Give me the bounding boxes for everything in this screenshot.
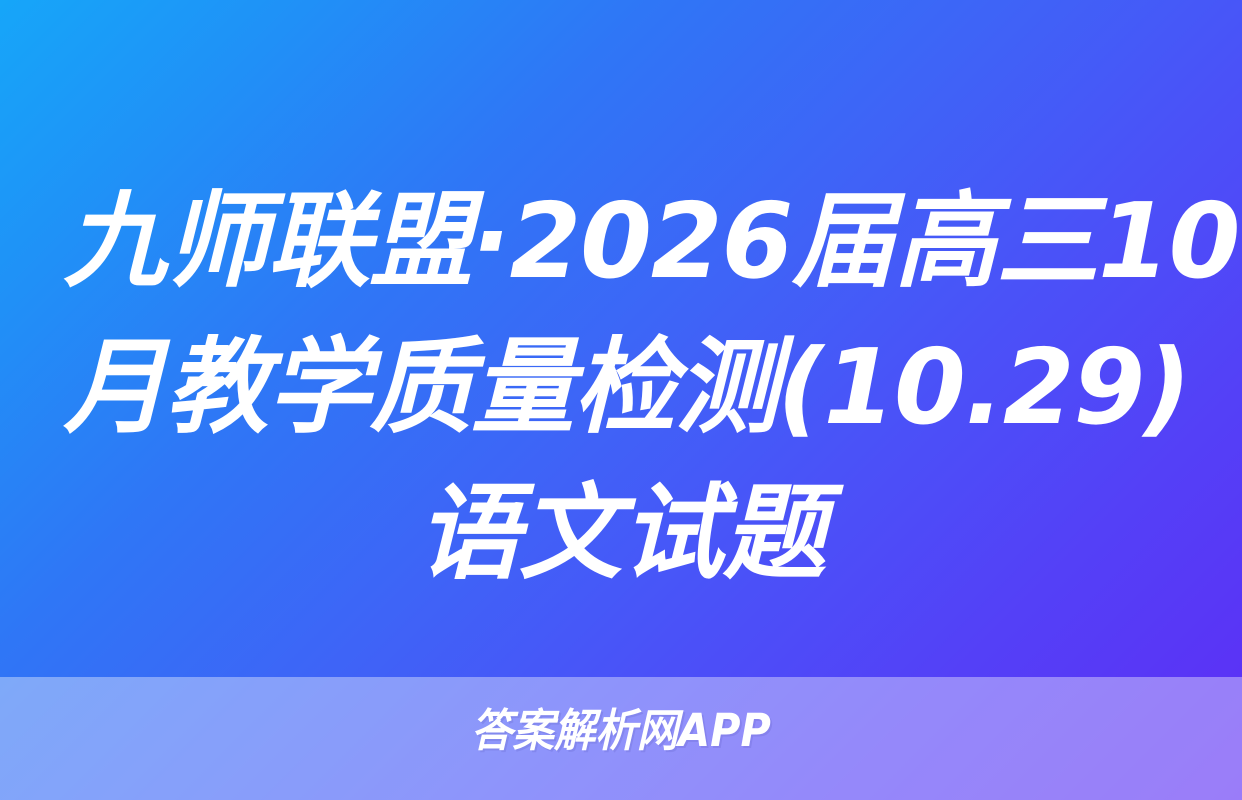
exam-cover-banner: 九师联盟·2026届高三10 月教学质量检测(10.29) 语文试题 答案解析网…	[0, 0, 1242, 800]
exam-title-line-2: 月教学质量检测(10.29)	[64, 314, 1179, 460]
app-watermark-label: 答案解析网APP	[50, 706, 1193, 756]
exam-title-line-3: 语文试题	[64, 460, 1179, 606]
exam-title-line-1: 九师联盟·2026届高三10	[64, 168, 1179, 314]
exam-title-block: 九师联盟·2026届高三10 月教学质量检测(10.29) 语文试题	[0, 168, 1242, 606]
